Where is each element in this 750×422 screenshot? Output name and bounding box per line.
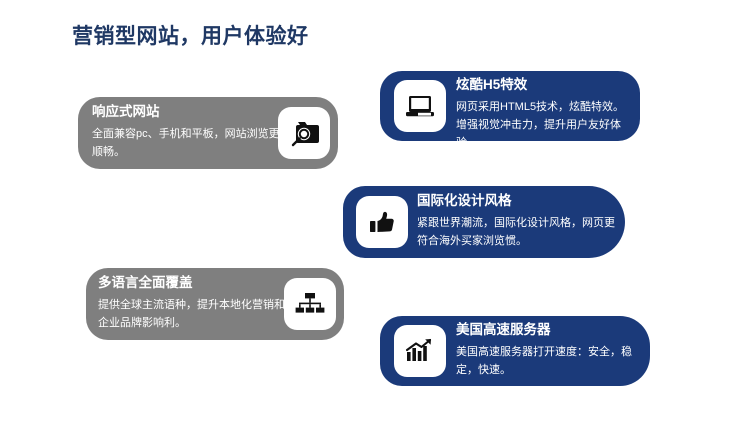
card-description: 紧跟世界潮流，国际化设计风格，网页更符合海外买家浏览惯。 bbox=[417, 214, 617, 250]
card-text-block: 响应式网站 全面兼容pc、手机和平板，网站浏览更顺畅。 bbox=[92, 105, 282, 161]
feature-card-responsive-website[interactable]: 响应式网站 全面兼容pc、手机和平板，网站浏览更顺畅。 bbox=[78, 97, 338, 169]
card-description: 美国高速服务器打开速度：安全，稳定，快速。 bbox=[456, 343, 644, 379]
feature-card-multilingual-coverage[interactable]: 多语言全面覆盖 提供全球主流语种，提升本地化营销和企业品牌影响利。 bbox=[86, 268, 344, 340]
thumbs-up-icon bbox=[356, 196, 408, 248]
card-title: 响应式网站 bbox=[92, 105, 282, 120]
card-title: 多语言全面覆盖 bbox=[98, 276, 286, 291]
sitemap-icon bbox=[284, 278, 336, 330]
bar-chart-growth-icon bbox=[394, 325, 446, 377]
card-text-block: 多语言全面覆盖 提供全球主流语种，提升本地化营销和企业品牌影响利。 bbox=[98, 276, 286, 332]
feature-card-us-fast-server[interactable]: 美国高速服务器 美国高速服务器打开速度：安全，稳定，快速。 bbox=[380, 316, 650, 386]
card-title: 美国高速服务器 bbox=[456, 323, 644, 338]
card-description: 提供全球主流语种，提升本地化营销和企业品牌影响利。 bbox=[98, 296, 286, 332]
camera-search-icon bbox=[278, 107, 330, 159]
slide-canvas: 营销型网站，用户体验好 响应式网站 全面兼容pc、手机和平板，网站浏览更顺畅。 bbox=[0, 0, 750, 422]
card-title: 炫酷H5特效 bbox=[456, 78, 634, 93]
card-title: 国际化设计风格 bbox=[417, 194, 617, 209]
feature-card-h5-effects[interactable]: 炫酷H5特效 网页采用HTML5技术，炫酷特效。增强视觉冲击力，提升用户友好体验… bbox=[380, 71, 640, 141]
card-text-block: 炫酷H5特效 网页采用HTML5技术，炫酷特效。增强视觉冲击力，提升用户友好体验… bbox=[456, 78, 634, 152]
card-text-block: 美国高速服务器 美国高速服务器打开速度：安全，稳定，快速。 bbox=[456, 323, 644, 379]
card-description: 全面兼容pc、手机和平板，网站浏览更顺畅。 bbox=[92, 125, 282, 161]
card-text-block: 国际化设计风格 紧跟世界潮流，国际化设计风格，网页更符合海外买家浏览惯。 bbox=[417, 194, 617, 250]
laptop-icon bbox=[394, 80, 446, 132]
page-title: 营销型网站，用户体验好 bbox=[72, 20, 309, 50]
feature-card-international-design[interactable]: 国际化设计风格 紧跟世界潮流，国际化设计风格，网页更符合海外买家浏览惯。 bbox=[343, 186, 625, 258]
card-description: 网页采用HTML5技术，炫酷特效。增强视觉冲击力，提升用户友好体验。 bbox=[456, 98, 634, 152]
